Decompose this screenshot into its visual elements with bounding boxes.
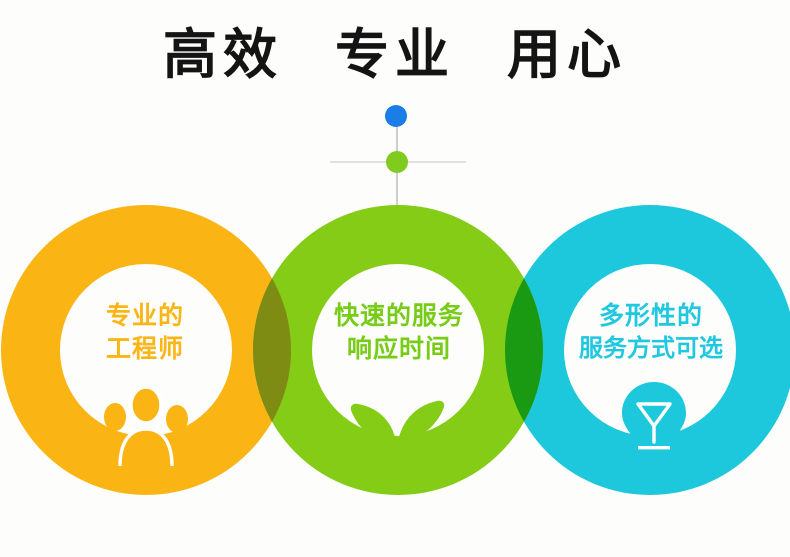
- ring-label-line-1: 专业的: [35, 300, 255, 333]
- ring-label-green: 快速的服务 响应时间: [288, 300, 510, 365]
- ring-label-line-2: 工程师: [35, 333, 255, 366]
- people-icon: [96, 388, 196, 466]
- ring-label-cyan: 多形性的 服务方式可选: [532, 300, 770, 364]
- page-title: 高效 专业 用心: [0, 28, 790, 82]
- ring-label-line-1: 多形性的: [532, 300, 770, 333]
- title-word-3: 用心: [507, 28, 627, 82]
- ring-label-orange: 专业的 工程师: [35, 300, 255, 365]
- poster-canvas: 高效 专业 用心: [0, 0, 790, 557]
- title-word-1: 高效: [163, 28, 283, 82]
- lightbulb-icon: [606, 378, 702, 474]
- ring-label-line-1: 快速的服务: [288, 300, 510, 333]
- ring-label-line-2: 响应时间: [288, 333, 510, 366]
- green-dot-icon: [386, 151, 408, 173]
- sprout-icon: [332, 382, 462, 478]
- blue-dot-icon: [385, 105, 407, 127]
- ring-label-line-2: 服务方式可选: [532, 333, 770, 364]
- title-word-2: 专业: [335, 28, 455, 82]
